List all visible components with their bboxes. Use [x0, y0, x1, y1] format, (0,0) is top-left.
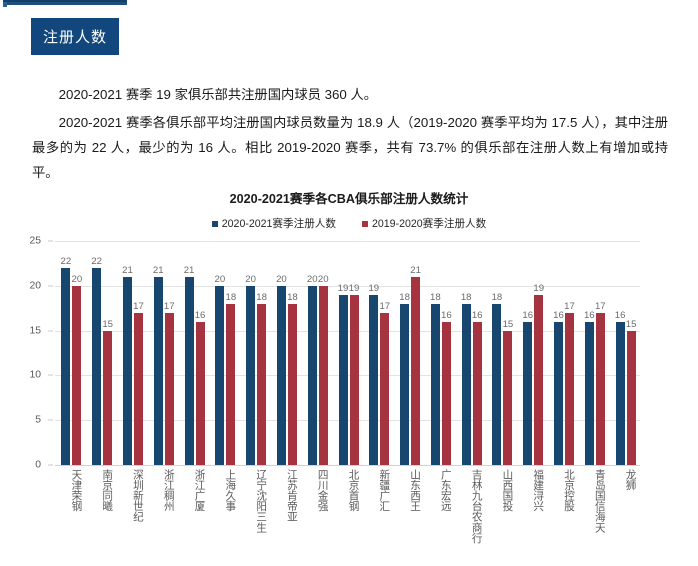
bar-value-label: 19 — [338, 283, 349, 294]
y-axis-tick-mark — [48, 241, 53, 242]
bar-value-label: 22 — [61, 256, 72, 267]
bar-group: 2220 — [59, 241, 81, 465]
legend-swatch-series1 — [362, 221, 368, 227]
x-axis-label: 南京同曦 — [89, 469, 113, 511]
x-axis-label: 天津荣钢 — [58, 469, 82, 511]
bar-value-label: 20 — [307, 274, 318, 285]
bar-group: 1617 — [583, 241, 605, 465]
y-axis-tick-label: 0 — [35, 460, 41, 471]
bar — [339, 295, 348, 465]
bar — [134, 313, 143, 465]
bar-value-label: 17 — [595, 301, 606, 312]
bar — [462, 304, 471, 465]
bar-value-label: 16 — [441, 310, 452, 321]
paragraph-1: 2020-2021 赛季 19 家俱乐部共注册国内球员 360 人。 — [32, 82, 668, 107]
bar-value-label: 15 — [102, 319, 113, 330]
chart-title: 2020-2021赛季各CBA俱乐部注册人数统计 — [0, 188, 698, 207]
bar-value-label: 21 — [184, 265, 195, 276]
x-axis-label: 浙江稠州 — [151, 469, 175, 511]
bar — [565, 313, 574, 465]
bar — [554, 322, 563, 465]
bar-group: 1821 — [398, 241, 420, 465]
bar-value-label: 17 — [564, 301, 575, 312]
bar — [523, 322, 532, 465]
article-body: 2020-2021 赛季 19 家俱乐部共注册国内球员 360 人。 2020-… — [32, 82, 668, 188]
bar — [226, 304, 235, 465]
bar-group: 2020 — [306, 241, 328, 465]
bar — [473, 322, 482, 465]
x-axis-label: 四川金强 — [305, 469, 329, 511]
bar — [411, 277, 420, 465]
bar — [400, 304, 409, 465]
y-axis-tick-label: 20 — [29, 280, 41, 291]
bar — [616, 322, 625, 465]
bar-value-label: 19 — [368, 283, 379, 294]
bar — [503, 331, 512, 465]
bar — [196, 322, 205, 465]
x-axis-labels: 天津荣钢南京同曦深圳新世纪浙江稠州浙江广厦上海久事辽宁沈阳三生江苏肯帝亚四川金强… — [55, 469, 640, 564]
bar — [61, 268, 70, 465]
bar-value-label: 17 — [133, 301, 144, 312]
bar-value-label: 20 — [276, 274, 287, 285]
legend-swatch-series0 — [212, 221, 218, 227]
bar-group: 1815 — [490, 241, 512, 465]
bar — [257, 304, 266, 465]
bar-value-label: 20 — [214, 274, 225, 285]
bar-value-label: 16 — [522, 310, 533, 321]
registration-bar-chart: 2020-2021赛季各CBA俱乐部注册人数统计 2020-2021赛季注册人数… — [0, 188, 698, 566]
x-axis-label: 山西国投 — [489, 469, 513, 511]
y-axis-tick-mark — [48, 375, 53, 376]
bar-group: 1619 — [521, 241, 543, 465]
bar-value-label: 21 — [153, 265, 164, 276]
x-axis-label: 浙江广厦 — [182, 469, 206, 511]
bar-group: 1919 — [337, 241, 359, 465]
bar-value-label: 18 — [399, 292, 410, 303]
bar — [72, 286, 81, 465]
bar — [627, 331, 636, 465]
bar — [185, 277, 194, 465]
paragraph-2: 2020-2021 赛季各俱乐部平均注册国内球员数量为 18.9 人（2019-… — [32, 110, 668, 185]
bar-value-label: 19 — [533, 283, 544, 294]
bar-value-label: 20 — [72, 274, 83, 285]
y-axis-tick-mark — [48, 420, 53, 421]
bar-value-label: 19 — [349, 283, 360, 294]
bar — [442, 322, 451, 465]
bar-group: 2117 — [121, 241, 143, 465]
x-axis-label: 辽宁沈阳三生 — [243, 469, 267, 533]
bar — [534, 295, 543, 465]
bar-value-label: 18 — [430, 292, 441, 303]
bar-value-label: 16 — [553, 310, 564, 321]
bar-value-label: 16 — [472, 310, 483, 321]
bar — [431, 304, 440, 465]
bar — [92, 268, 101, 465]
bar-value-label: 18 — [225, 292, 236, 303]
bar-group: 1615 — [614, 241, 636, 465]
x-axis-label: 北京控股 — [551, 469, 575, 511]
bar — [350, 295, 359, 465]
bar — [380, 313, 389, 465]
bar — [319, 286, 328, 465]
bar-group: 1816 — [429, 241, 451, 465]
bar — [288, 304, 297, 465]
bar — [165, 313, 174, 465]
bar-group: 2018 — [213, 241, 235, 465]
legend-label-series1: 2019-2020赛季注册人数 — [372, 216, 486, 231]
bar-value-label: 20 — [245, 274, 256, 285]
legend-label-series0: 2020-2021赛季注册人数 — [222, 216, 336, 231]
x-axis-label: 江苏肯帝亚 — [274, 469, 298, 522]
bar — [154, 277, 163, 465]
bar — [246, 286, 255, 465]
y-axis-tick-mark — [48, 465, 53, 466]
legend-item-series0: 2020-2021赛季注册人数 — [212, 216, 336, 231]
bar-group: 2117 — [152, 241, 174, 465]
bar-value-label: 16 — [584, 310, 595, 321]
bar-value-label: 17 — [379, 301, 390, 312]
bar-value-label: 18 — [461, 292, 472, 303]
y-axis-tick-label: 5 — [35, 415, 41, 426]
bar — [103, 331, 112, 465]
y-axis-tick-label: 10 — [29, 370, 41, 381]
x-axis-label: 上海久事 — [212, 469, 236, 511]
bar — [596, 313, 605, 465]
bar-value-label: 17 — [164, 301, 175, 312]
bar — [123, 277, 132, 465]
bar-value-label: 18 — [256, 292, 267, 303]
section-badge: 注册人数 — [31, 18, 119, 55]
section-badge-label: 注册人数 — [43, 26, 107, 47]
y-axis-tick-mark — [48, 285, 53, 286]
bar-value-label: 22 — [91, 256, 102, 267]
bar-group: 1617 — [552, 241, 574, 465]
y-axis-tick-mark — [48, 330, 53, 331]
y-axis-tick-label: 25 — [29, 236, 41, 247]
bar-group: 1816 — [460, 241, 482, 465]
y-axis-tick-label: 15 — [29, 325, 41, 336]
bar-value-label: 16 — [195, 310, 206, 321]
x-axis-label: 福建浔兴 — [520, 469, 544, 511]
bar-value-label: 18 — [492, 292, 503, 303]
bar-value-label: 16 — [615, 310, 626, 321]
bar — [369, 295, 378, 465]
x-axis-label: 深圳新世纪 — [120, 469, 144, 522]
top-accent-rule — [3, 0, 127, 5]
x-axis-label: 新疆广汇 — [366, 469, 390, 511]
y-axis: 0510152025 — [0, 241, 50, 465]
bar-group: 2215 — [90, 241, 112, 465]
bar-value-label: 20 — [318, 274, 329, 285]
plot-area: 2220221521172117211620182018201820201919… — [55, 241, 640, 465]
x-axis-label: 北京首钢 — [336, 469, 360, 511]
bar-value-label: 21 — [122, 265, 133, 276]
bar-group: 2018 — [275, 241, 297, 465]
top-accent-rule-cap — [3, 2, 7, 7]
bar — [308, 286, 317, 465]
bar — [492, 304, 501, 465]
legend-item-series1: 2019-2020赛季注册人数 — [362, 216, 486, 231]
bar — [585, 322, 594, 465]
x-axis-label: 青岛国信海天 — [582, 469, 606, 533]
x-axis-label: 山东西王 — [397, 469, 421, 511]
x-axis-label: 龙狮 — [613, 469, 637, 490]
bar-group: 2116 — [183, 241, 205, 465]
bar-group: 2018 — [244, 241, 266, 465]
bar — [215, 286, 224, 465]
bar-value-label: 18 — [287, 292, 298, 303]
bar-group: 1917 — [367, 241, 389, 465]
bar — [277, 286, 286, 465]
x-axis-label: 吉林九台农商行 — [459, 469, 483, 543]
bar-value-label: 21 — [410, 265, 421, 276]
gridline — [55, 465, 640, 466]
x-axis-label: 广东宏远 — [428, 469, 452, 511]
chart-legend: 2020-2021赛季注册人数 2019-2020赛季注册人数 — [0, 216, 698, 231]
bar-value-label: 15 — [626, 319, 637, 330]
bar-value-label: 15 — [503, 319, 514, 330]
